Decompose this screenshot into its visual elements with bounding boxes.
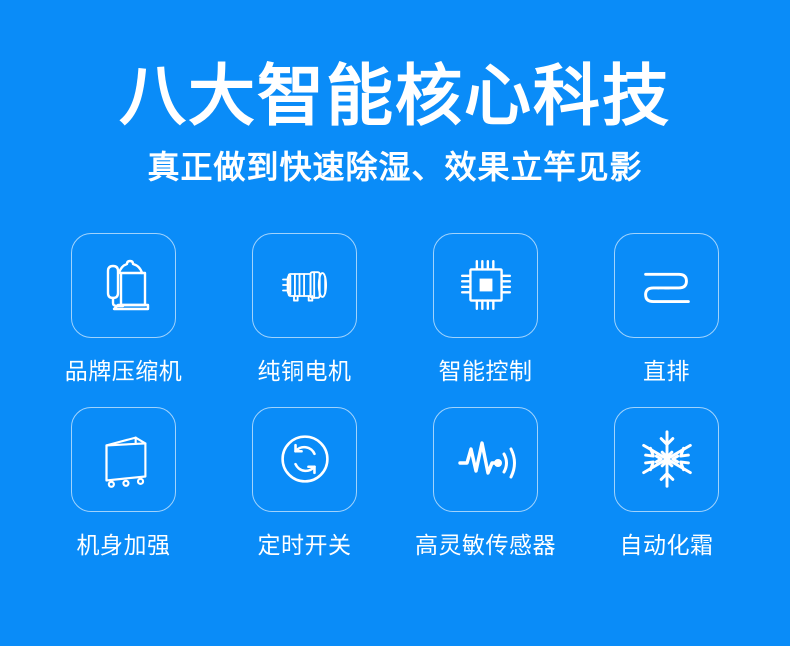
- feature-label: 直排: [643, 352, 690, 386]
- drain-hose-icon: [614, 233, 719, 338]
- chip-icon: [433, 233, 538, 338]
- feature-item-auto-defrost: 自动化霜: [614, 407, 719, 581]
- feature-item-timer-switch: 定时开关: [252, 407, 357, 581]
- feature-label: 高灵敏传感器: [415, 526, 556, 560]
- feature-item-motor: 纯铜电机: [252, 233, 357, 407]
- page-title: 八大智能核心科技: [119, 62, 671, 132]
- feature-label: 机身加强: [77, 526, 171, 560]
- promo-banner: 八大智能核心科技 真正做到快速除湿、效果立竿见影 品牌压缩机: [0, 0, 790, 646]
- page-subtitle: 真正做到快速除湿、效果立竿见影: [147, 148, 642, 186]
- feature-item-reinforced-body: 机身加强: [71, 407, 176, 581]
- pulse-sensor-icon: [433, 407, 538, 512]
- motor-icon: [252, 233, 357, 338]
- timer-cycle-icon: [252, 407, 357, 512]
- compressor-icon: [71, 233, 176, 338]
- feature-item-smart-control: 智能控制: [433, 233, 538, 407]
- feature-label: 定时开关: [258, 526, 352, 560]
- feature-label: 智能控制: [439, 352, 533, 386]
- feature-item-sensitive-sensor: 高灵敏传感器: [415, 407, 556, 581]
- cabinet-icon: [71, 407, 176, 512]
- feature-label: 纯铜电机: [258, 352, 352, 386]
- snowflake-icon: [614, 407, 719, 512]
- feature-item-compressor: 品牌压缩机: [65, 233, 183, 407]
- feature-item-direct-drain: 直排: [614, 233, 719, 407]
- feature-label: 自动化霜: [620, 526, 714, 560]
- feature-grid: 品牌压缩机 纯铜电机: [33, 233, 757, 581]
- feature-label: 品牌压缩机: [65, 352, 183, 386]
